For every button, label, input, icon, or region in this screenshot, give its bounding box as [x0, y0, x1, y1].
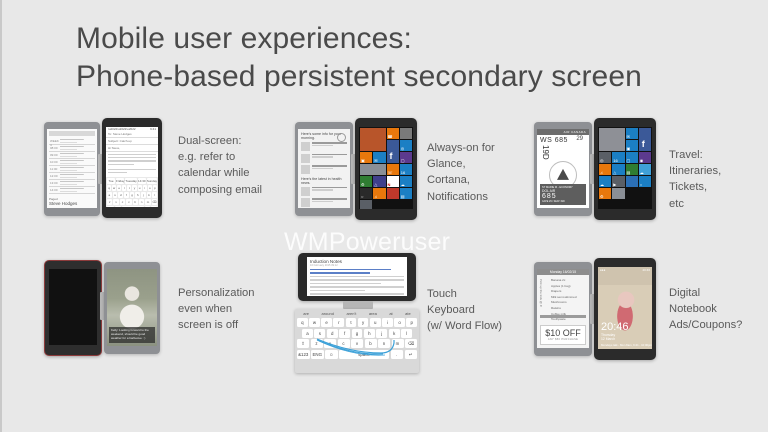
facebook-tile[interactable]: f	[387, 140, 399, 163]
list-item[interactable]: Diapers	[551, 289, 589, 293]
news-tile[interactable]	[387, 188, 399, 199]
word-flow-keyboard[interactable]: are around aren't area at ate qwertyuiop…	[295, 309, 419, 373]
maps-tile[interactable]: △	[373, 176, 385, 187]
start-tiles-travel[interactable]: ✉ f ▣ ◎ 16 ▢ ◉ ♫ △ ▤ ☁ ☁ ▶ ○ ⚙	[598, 127, 652, 209]
document-footer: Paged Steve Hodges	[49, 197, 95, 206]
email-body[interactable]	[106, 152, 158, 177]
lock-date: Thursday 12 March	[601, 333, 615, 342]
suggestion-4[interactable]: at	[389, 311, 392, 316]
stub-flight-seat: 685	[542, 193, 584, 200]
shopping-list-app: Monday 16/02/15 Pick up the kids @ 4! Ba…	[537, 269, 589, 348]
table-row: WEEK 4	[49, 138, 95, 145]
notes-link-2[interactable]	[310, 272, 370, 273]
video-tile[interactable]	[626, 176, 638, 187]
page-title: Mobile user experiences: Phone-based per…	[76, 20, 736, 97]
music-tile[interactable]: ♫	[599, 164, 611, 175]
photos-tile[interactable]	[400, 128, 412, 139]
suggestion-5[interactable]: ate	[405, 311, 411, 316]
table-row: 11:00	[49, 166, 95, 173]
title-line-1: Mobile user experiences:	[76, 20, 736, 58]
keyboard-row-3[interactable]: zxcvbnm⌫	[107, 199, 157, 205]
screen-boarding-pass: AIR CANADA WS 685 29 19D ST MARIE M - EC…	[537, 129, 589, 208]
list-item[interactable]	[301, 154, 347, 163]
screen-start-travel: ✉ f ▣ ◎ 16 ▢ ◉ ♫ △ ▤ ☁ ☁ ▶ ○ ⚙	[598, 127, 652, 209]
mockup-personalization: Kelly: Looking forward to the weekend, s…	[42, 258, 182, 358]
mockup-always-on: Here's some info for your morning. Here'…	[293, 118, 433, 218]
table-row: 12:00	[49, 173, 95, 180]
store-tile[interactable]: ▢	[626, 152, 638, 163]
onedrive-tile[interactable]: ☁	[599, 176, 611, 187]
device-right-glance-photo[interactable]: Kelly: Looking forward to the weekend, s…	[104, 262, 160, 354]
suggestion-3[interactable]: area	[369, 311, 377, 316]
whatsapp-tile[interactable]: ☏	[387, 164, 399, 175]
lock-screen: ●●●20:46 20:46 Thursday 12 March Mondays…	[598, 267, 652, 349]
photo-background: Kelly: Looking forward to the weekend, s…	[107, 269, 157, 346]
email-subject-field[interactable]: Subject: Catch-up	[106, 138, 158, 145]
list-item[interactable]	[301, 198, 347, 207]
list-item[interactable]: Raisins	[551, 306, 589, 310]
gate-number: 29	[576, 136, 583, 142]
lock-date-value: 12 March	[601, 337, 615, 341]
notes-subtitle: 16 February 2015 09:12	[310, 264, 404, 267]
screen-start: ☎ f ◎ ▣ ✉ ▢ ☏ 16 ⚙ △ N ☁ ○ ♫	[359, 127, 413, 209]
title-line-2: Phone-based persistent secondary screen	[76, 58, 736, 96]
settings-tile[interactable]: ⚙	[599, 188, 611, 199]
list-item[interactable]: Banana 2x	[551, 278, 589, 282]
screen-glance-photo: Kelly: Looking forward to the weekend, s…	[107, 269, 157, 346]
email-to-field[interactable]: To: Steve Hodges	[106, 131, 158, 138]
cortana-tile[interactable]: ○	[639, 176, 651, 187]
device-left-shopping-list[interactable]: Monday 16/02/15 Pick up the kids @ 4! Ba…	[534, 262, 592, 356]
calendar-document: WEEK 4 08:00 09:00 10:00 11:00 12:00 13:…	[47, 129, 97, 208]
table-row: 09:00	[49, 152, 95, 159]
thumbnail	[301, 198, 310, 207]
list-item[interactable]: Mushrooms	[551, 300, 589, 304]
phone-tile[interactable]: ☎	[387, 128, 399, 139]
gallery-tile[interactable]	[360, 164, 386, 175]
coupon-amount: $10 OFF	[541, 328, 585, 338]
device-landscape-notes[interactable]: Induction Notes 16 February 2015 09:12	[298, 253, 416, 301]
slide-canvas: Mobile user experiences: Phone-based per…	[0, 0, 768, 432]
music-tile[interactable]: ♫	[373, 188, 385, 199]
lock-status: Mondays talk - Mon 8am, 9:41 - 10:00pm	[601, 343, 652, 347]
device-left-calendar[interactable]: WEEK 4 08:00 09:00 10:00 11:00 12:00 13:…	[44, 122, 100, 216]
document-header	[49, 131, 95, 136]
list-item[interactable]	[301, 142, 347, 151]
list-item[interactable]: Apples (1 bag)	[551, 284, 589, 288]
keyboard-row-2[interactable]: asdfghjkl	[297, 329, 417, 338]
thumbnail	[301, 187, 310, 196]
coupon-card[interactable]: $10 OFF ANY $50 PURCHASE	[540, 325, 586, 345]
cortana-tile[interactable]: ○	[360, 188, 372, 199]
device-right-start-travel[interactable]: ✉ f ▣ ◎ 16 ▢ ◉ ♫ △ ▤ ☁ ☁ ▶ ○ ⚙	[594, 118, 656, 220]
screen-cortana-feed: Here's some info for your morning. Here'…	[298, 129, 350, 208]
on-screen-keyboard[interactable]: TueFridayTuesday14:30Sunday qwertyuiop a…	[106, 177, 158, 207]
date-header: Monday 16/02/15	[537, 269, 589, 275]
camera-tile[interactable]: ◎	[400, 140, 412, 151]
device-left-boardingpass[interactable]: AIR CANADA WS 685 29 19D ST MARIE M - EC…	[534, 122, 592, 216]
cortana-ring-icon	[337, 133, 346, 142]
notes-line	[310, 276, 404, 277]
maple-leaf-icon	[557, 169, 569, 180]
notes-line	[310, 290, 365, 291]
device-left-screen-off[interactable]	[44, 260, 102, 356]
screen-notes: Induction Notes 16 February 2015 09:12	[307, 257, 407, 296]
camera-tile[interactable]: ◎	[599, 152, 611, 163]
instagram-tile[interactable]: ▢	[400, 152, 412, 163]
thumbnail	[301, 165, 310, 174]
mail-tile[interactable]: ✉	[373, 152, 385, 163]
caption-touch-keyboard: Touch Keyboard (w/ Word Flow)	[427, 286, 537, 335]
table-row: 10:00	[49, 159, 95, 166]
coupon-terms: ANY $50 PURCHASE	[541, 338, 585, 341]
keyboard-suggestion-row[interactable]: TueFridayTuesday14:30Sunday	[107, 178, 157, 184]
keyboard-row-2[interactable]: asdfghjkl	[107, 192, 157, 198]
cortana-feed: Here's some info for your morning. Here'…	[298, 129, 350, 208]
table-row: 13:00	[49, 180, 95, 187]
suggestion-2[interactable]: aren't	[346, 311, 356, 316]
people-tile[interactable]: ◉	[639, 152, 651, 163]
caption-personalization: Personalization even when screen is off	[178, 285, 286, 334]
pass-stub: ST MARIE M - ECONOMY DOL AIR 685 GATE 29…	[540, 184, 586, 205]
email-compose-app: \u2022\u2022\u20229:41 To: Steve Hodges …	[106, 127, 158, 207]
calendar-tile[interactable]: 16	[612, 152, 624, 163]
hinge-connector	[343, 301, 373, 309]
thumbnail	[301, 154, 310, 163]
netflix-tile[interactable]: N	[387, 176, 399, 187]
table-row: 14:00	[49, 187, 95, 194]
table-row: 08:00	[49, 145, 95, 152]
notes-line	[310, 283, 381, 284]
facebook-tile[interactable]: f	[639, 128, 651, 151]
mockup-dual-screen: WEEK 4 08:00 09:00 10:00 11:00 12:00 13:…	[40, 118, 180, 218]
caption-always-on: Always-on for Glance, Cortana, Notificat…	[427, 140, 533, 205]
screen-off	[49, 269, 97, 345]
notes-link[interactable]	[310, 269, 391, 270]
messaging-tile[interactable]: ▣	[626, 140, 638, 151]
weather-tile[interactable]: ☁	[639, 164, 651, 175]
screen-lock: ●●●20:46 20:46 Thursday 12 March Mondays…	[598, 267, 652, 349]
thumbnail	[301, 142, 310, 151]
mail-tile[interactable]: ✉	[626, 128, 638, 139]
suggestion-0[interactable]: are	[303, 311, 309, 316]
device-right-start[interactable]: ☎ f ◎ ▣ ✉ ▢ ☏ 16 ⚙ △ N ☁ ○ ♫	[355, 118, 417, 220]
extra-tile[interactable]	[360, 200, 372, 209]
caption-travel: Travel: Itineraries, Tickets, etc	[669, 147, 765, 212]
office-tile[interactable]: ▤	[626, 164, 638, 175]
keyboard-row-3[interactable]: ⇧zxcvbnm⌫	[297, 339, 417, 348]
notes-line	[310, 279, 404, 280]
footer-name: Steve Hodges	[49, 201, 95, 206]
side-note: Pick up the kids @ 4!	[539, 279, 543, 307]
mockup-digital-notebook: Monday 16/02/15 Pick up the kids @ 4! Ba…	[532, 258, 672, 358]
lock-time: 20:46	[601, 322, 629, 333]
device-right-lockscreen[interactable]: ●●●20:46 20:46 Thursday 12 March Mondays…	[594, 258, 656, 360]
black-display	[49, 269, 97, 345]
keyboard-row-4[interactable]: &123ENG☺space.↵	[297, 350, 417, 359]
boarding-pass: AIR CANADA WS 685 29 19D ST MARIE M - EC…	[537, 129, 589, 208]
mockup-travel: AIR CANADA WS 685 29 19D ST MARIE M - EC…	[532, 118, 672, 218]
caption-dual-screen: Dual-screen: e.g. refer to calendar whil…	[178, 133, 286, 198]
feed-heading-2: Here's the latest in health news.	[301, 177, 347, 185]
list-item[interactable]	[301, 165, 347, 174]
keyboard-row-1[interactable]: qwertyuiop	[107, 185, 157, 191]
onedrive-tile[interactable]: ☁	[400, 176, 412, 187]
settings-tile[interactable]: ⚙	[360, 176, 372, 187]
suggestion-1[interactable]: around	[322, 311, 334, 316]
mockup-touch-keyboard: Induction Notes 16 February 2015 09:12 a…	[295, 253, 425, 375]
status-bar: ●●●20:46	[598, 267, 652, 273]
screen-email-compose: \u2022\u2022\u20229:41 To: Steve Hodges …	[106, 127, 158, 207]
photo-tile[interactable]	[599, 128, 625, 151]
email-greeting: Hi Steve,	[106, 145, 158, 152]
stub-detail: GATE 29 / SEAT 19D	[542, 200, 584, 203]
start-tiles[interactable]: ☎ f ◎ ▣ ✉ ▢ ☏ 16 ⚙ △ N ☁ ○ ♫	[359, 127, 413, 209]
store-tile[interactable]: ▣	[360, 152, 372, 163]
list-item[interactable]	[301, 187, 347, 196]
notes-line	[310, 286, 404, 287]
divider	[540, 315, 586, 318]
screen-calendar-list: WEEK 4 08:00 09:00 10:00 11:00 12:00 13:…	[47, 129, 97, 208]
suggestion-bar[interactable]: are around aren't area at ate	[297, 311, 417, 316]
seat-number: 19D	[541, 145, 550, 160]
notes-line	[310, 293, 404, 294]
notes-app: Induction Notes 16 February 2015 09:12	[307, 257, 407, 296]
caption-digital-notebook: Digital Notebook Ads/Coupons?	[669, 285, 768, 334]
office-tile[interactable]: ▤	[400, 188, 412, 199]
maps-tile[interactable]: △	[612, 164, 624, 175]
device-left-cortana[interactable]: Here's some info for your morning. Here'…	[295, 122, 353, 216]
device-right-email[interactable]: \u2022\u2022\u20229:41 To: Steve Hodges …	[102, 118, 162, 218]
keyboard-row-1[interactable]: qwertyuiop	[297, 318, 417, 327]
games-tile[interactable]: ▶	[612, 176, 624, 187]
calendar-tile[interactable]: 16	[400, 164, 412, 175]
people-tile[interactable]	[360, 128, 386, 151]
list-item[interactable]: Milk semi-skimmed	[551, 295, 589, 299]
extra-tile[interactable]	[612, 188, 624, 199]
screen-shopping-list: Monday 16/02/15 Pick up the kids @ 4! Ba…	[537, 269, 589, 348]
notification-toast[interactable]: Kelly: Looking forward to the weekend, s…	[109, 327, 155, 343]
